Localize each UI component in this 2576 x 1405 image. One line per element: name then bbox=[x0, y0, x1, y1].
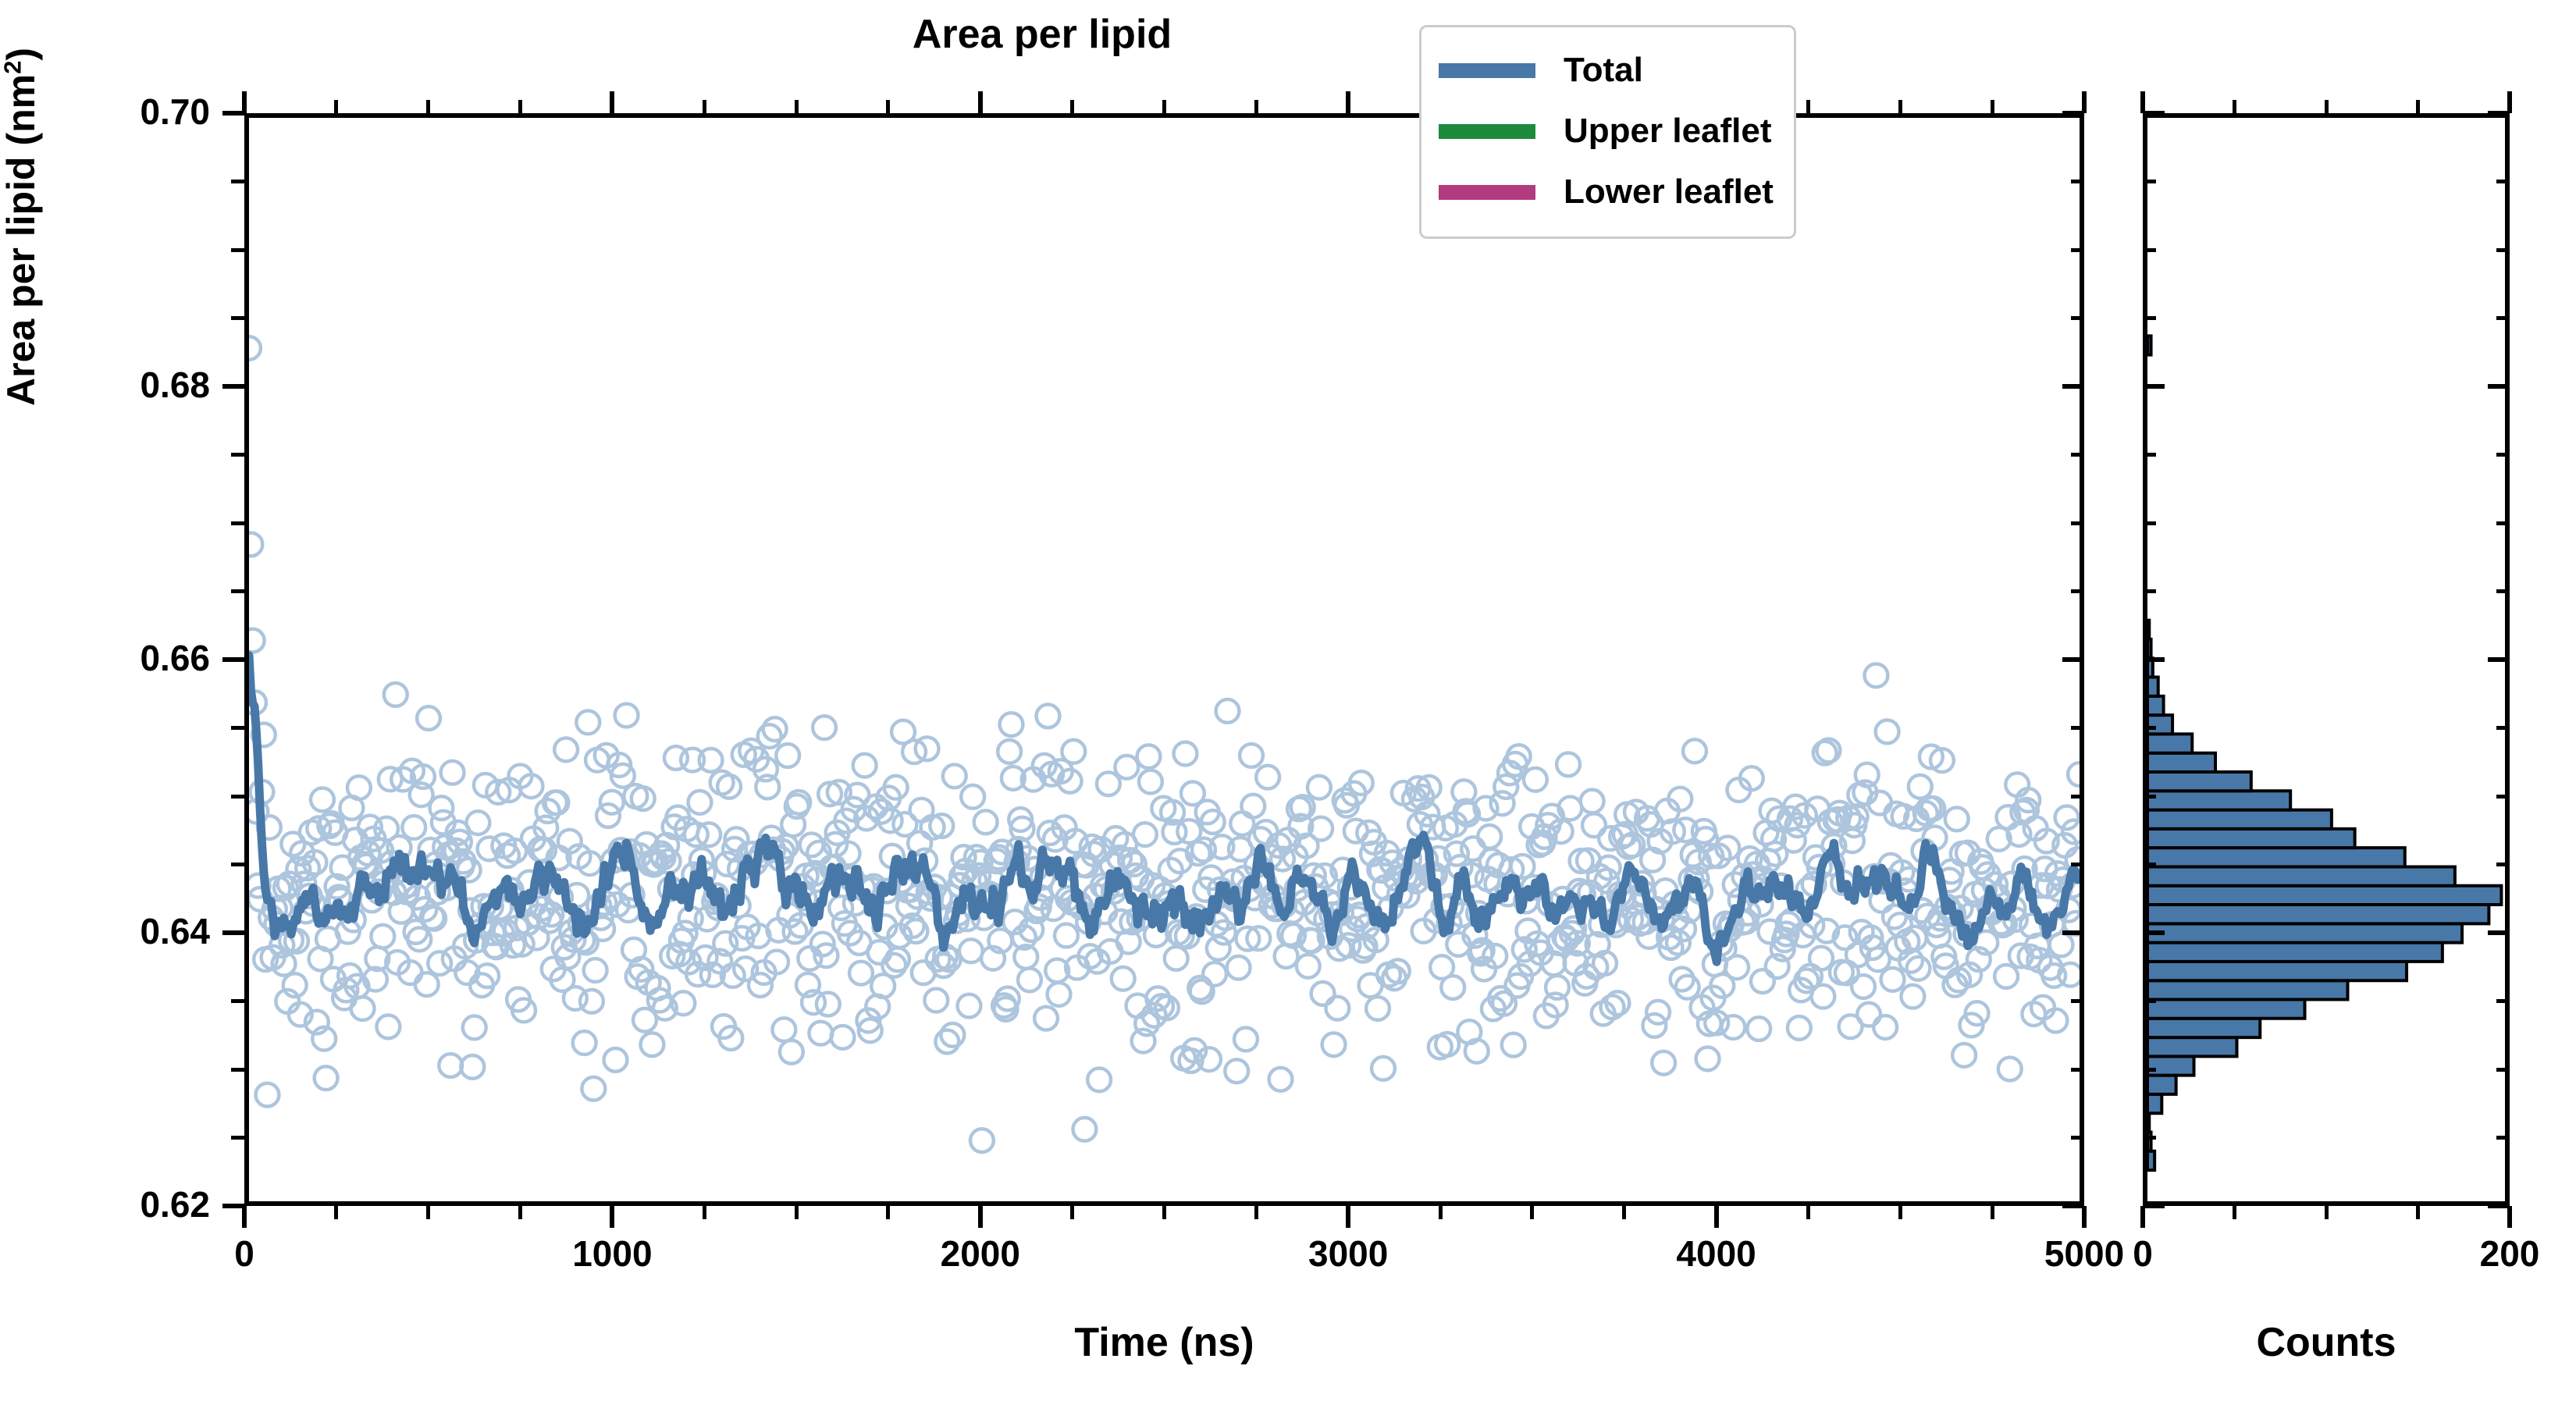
y-tick-minor-right bbox=[2071, 795, 2084, 799]
x-tick-minor bbox=[1806, 1206, 1810, 1219]
y-tick-major-right bbox=[2062, 384, 2084, 389]
histogram-bar bbox=[2147, 1113, 2149, 1132]
x-tick-minor bbox=[1898, 1206, 1902, 1219]
x-tick-minor bbox=[1162, 1206, 1166, 1219]
y-axis-title: Area per lipid (nm2) bbox=[0, 48, 44, 406]
x-tick-minor bbox=[1070, 1206, 1074, 1219]
histogram-bar bbox=[2147, 943, 2443, 962]
hist-x-tick-minor bbox=[2325, 1206, 2329, 1219]
y-tick-minor-right bbox=[2071, 999, 2084, 1003]
hist-x-tick-label: 0 bbox=[2026, 1232, 2260, 1275]
histogram-bar bbox=[2147, 772, 2251, 791]
y-tick-minor-right bbox=[2071, 1068, 2084, 1072]
hist-y-tick-minor-right bbox=[2496, 1068, 2510, 1072]
x-tick-minor bbox=[426, 1206, 430, 1219]
x-tick-minor-top bbox=[703, 100, 706, 113]
x-tick-label: 2000 bbox=[863, 1232, 1098, 1275]
y-tick-minor bbox=[231, 863, 244, 866]
y-tick-minor bbox=[231, 726, 244, 730]
x-tick-minor-top bbox=[518, 100, 522, 113]
hist-y-tick-minor-left bbox=[2143, 795, 2156, 799]
histogram-bar bbox=[2147, 621, 2149, 639]
x-tick-minor-top bbox=[1070, 100, 1074, 113]
y-tick-minor bbox=[231, 248, 244, 252]
hist-y-tick-minor-right bbox=[2496, 453, 2510, 457]
legend-swatch-upper-leaflet bbox=[1439, 124, 1535, 139]
hist-x-tick-minor-top bbox=[2325, 100, 2329, 113]
x-tick-label: 1000 bbox=[495, 1232, 729, 1275]
y-tick-major-right bbox=[2062, 657, 2084, 662]
y-tick-minor bbox=[231, 180, 244, 183]
x-tick-major-top bbox=[610, 91, 614, 113]
x-tick-label: 4000 bbox=[1599, 1232, 1834, 1275]
y-tick-minor bbox=[231, 589, 244, 593]
y-tick-major bbox=[222, 111, 244, 116]
histogram-bar bbox=[2147, 1019, 2260, 1037]
legend-label-lower-leaflet: Lower leaflet bbox=[1564, 175, 1774, 209]
x-tick-minor bbox=[1622, 1206, 1626, 1219]
histogram-bar bbox=[2147, 1094, 2161, 1113]
histogram-bar bbox=[2147, 1037, 2237, 1056]
hist-y-tick-minor-left bbox=[2143, 999, 2156, 1003]
histogram-bar bbox=[2147, 1076, 2176, 1094]
hist-y-tick-minor-left bbox=[2143, 726, 2156, 730]
hist-y-tick-minor-right bbox=[2496, 999, 2510, 1003]
hist-x-tick-major bbox=[2140, 1206, 2145, 1228]
x-tick-major bbox=[242, 1206, 247, 1228]
hist-x-tick-minor bbox=[2416, 1206, 2420, 1219]
hist-y-tick-minor-left bbox=[2143, 316, 2156, 320]
x-tick-major-top bbox=[978, 91, 983, 113]
main-plot-panel bbox=[244, 113, 2084, 1206]
hist-x-tick-minor-top bbox=[2233, 100, 2236, 113]
y-tick-minor bbox=[231, 1136, 244, 1140]
histogram-bar bbox=[2147, 810, 2332, 829]
y-tick-minor bbox=[231, 521, 244, 525]
hist-y-tick-minor-left bbox=[2143, 1068, 2156, 1072]
x-tick-major bbox=[978, 1206, 983, 1228]
x-tick-minor-top bbox=[795, 100, 799, 113]
y-tick-minor-right bbox=[2071, 1136, 2084, 1140]
y-tick-major bbox=[222, 1204, 244, 1208]
y-tick-minor bbox=[231, 999, 244, 1003]
hist-y-tick-minor-left bbox=[2143, 863, 2156, 866]
y-tick-minor-right bbox=[2071, 863, 2084, 866]
x-tick-major-top bbox=[242, 91, 247, 113]
hist-y-tick-major-right bbox=[2488, 930, 2510, 935]
hist-y-tick-major-right bbox=[2488, 1204, 2510, 1208]
x-tick-major bbox=[1714, 1206, 1719, 1228]
histogram-bar bbox=[2147, 336, 2151, 354]
hist-x-tick-minor-top bbox=[2416, 100, 2420, 113]
histogram-bar bbox=[2147, 678, 2158, 696]
hist-y-tick-minor-left bbox=[2143, 521, 2156, 525]
hist-y-tick-minor-right bbox=[2496, 316, 2510, 320]
histogram-bar bbox=[2147, 905, 2489, 923]
x-tick-minor-top bbox=[1806, 100, 1810, 113]
hist-y-tick-minor-left bbox=[2143, 453, 2156, 457]
y-tick-minor-right bbox=[2071, 248, 2084, 252]
figure-canvas: Area per lipid 0.700.680.660.640.62 0100… bbox=[0, 0, 2576, 1405]
hist-y-tick-major-left bbox=[2143, 384, 2165, 389]
legend-item-total[interactable]: Total bbox=[1439, 40, 1774, 101]
legend-swatch-total bbox=[1439, 63, 1535, 78]
histogram-bar bbox=[2147, 829, 2355, 848]
hist-y-tick-major-left bbox=[2143, 1204, 2165, 1208]
hist-y-tick-major-left bbox=[2143, 111, 2165, 116]
histogram-plot-area bbox=[2147, 118, 2505, 1201]
histogram-x-axis-title: Counts bbox=[2143, 1319, 2510, 1366]
hist-y-tick-minor-right bbox=[2496, 180, 2510, 183]
histogram-bar bbox=[2147, 791, 2290, 809]
x-tick-minor-top bbox=[1254, 100, 1258, 113]
y-tick-minor bbox=[231, 453, 244, 457]
legend-swatch-lower-leaflet bbox=[1439, 185, 1535, 200]
legend-box: Total Upper leaflet Lower leaflet bbox=[1419, 25, 1796, 239]
y-tick-label: 0.62 bbox=[0, 1183, 210, 1225]
hist-y-tick-major-left bbox=[2143, 657, 2165, 662]
hist-y-tick-major-left bbox=[2143, 930, 2165, 935]
histogram-panel bbox=[2143, 113, 2510, 1206]
x-tick-minor bbox=[703, 1206, 706, 1219]
y-tick-minor-right bbox=[2071, 589, 2084, 593]
histogram-bar bbox=[2147, 734, 2192, 752]
hist-y-tick-minor-right bbox=[2496, 726, 2510, 730]
x-tick-minor bbox=[886, 1206, 890, 1219]
y-tick-minor bbox=[231, 795, 244, 799]
legend-item-upper-leaflet[interactable]: Upper leaflet bbox=[1439, 101, 1774, 162]
legend-label-upper-leaflet: Upper leaflet bbox=[1564, 114, 1772, 148]
histogram-bar bbox=[2147, 1056, 2194, 1075]
x-tick-minor-top bbox=[426, 100, 430, 113]
histogram-bar bbox=[2147, 980, 2347, 999]
y-tick-label: 0.66 bbox=[0, 637, 210, 679]
hist-y-tick-minor-right bbox=[2496, 1136, 2510, 1140]
y-tick-minor bbox=[231, 1068, 244, 1072]
x-tick-minor bbox=[518, 1206, 522, 1219]
x-tick-minor bbox=[1991, 1206, 1994, 1219]
x-tick-minor-top bbox=[1898, 100, 1902, 113]
x-tick-major bbox=[1346, 1206, 1350, 1228]
x-tick-major bbox=[2082, 1206, 2087, 1228]
hist-y-tick-minor-right bbox=[2496, 521, 2510, 525]
x-tick-major bbox=[610, 1206, 614, 1228]
hist-x-tick-major-top bbox=[2507, 91, 2512, 113]
hist-x-tick-major bbox=[2507, 1206, 2512, 1228]
hist-y-tick-minor-right bbox=[2496, 589, 2510, 593]
hist-y-tick-major-right bbox=[2488, 384, 2510, 389]
y-tick-major bbox=[222, 657, 244, 662]
y-tick-major-right bbox=[2062, 930, 2084, 935]
legend-item-lower-leaflet[interactable]: Lower leaflet bbox=[1439, 162, 1774, 222]
hist-y-tick-minor-left bbox=[2143, 1136, 2156, 1140]
scatter-markers bbox=[249, 336, 2080, 1152]
y-tick-label: 0.64 bbox=[0, 910, 210, 952]
hist-y-tick-major-right bbox=[2488, 111, 2510, 116]
x-tick-label: 3000 bbox=[1231, 1232, 1465, 1275]
x-tick-label: 0 bbox=[127, 1232, 361, 1275]
y-axis-title-text: Area per lipid (nm bbox=[0, 74, 43, 406]
y-tick-minor-right bbox=[2071, 521, 2084, 525]
x-tick-minor bbox=[795, 1206, 799, 1219]
x-tick-minor-top bbox=[1991, 100, 1994, 113]
x-tick-minor-top bbox=[886, 100, 890, 113]
x-tick-minor bbox=[1439, 1206, 1443, 1219]
hist-y-tick-major-right bbox=[2488, 657, 2510, 662]
legend-label-total: Total bbox=[1564, 53, 1643, 87]
x-tick-minor bbox=[1254, 1206, 1258, 1219]
y-tick-minor bbox=[231, 316, 244, 320]
x-tick-minor-top bbox=[334, 100, 338, 113]
scatter-marker-path bbox=[249, 336, 2080, 1152]
hist-y-tick-minor-left bbox=[2143, 589, 2156, 593]
histogram-bar bbox=[2147, 753, 2215, 772]
hist-y-tick-minor-right bbox=[2496, 795, 2510, 799]
y-tick-major-right bbox=[2062, 111, 2084, 116]
y-tick-major-right bbox=[2062, 1204, 2084, 1208]
histogram-bar bbox=[2147, 866, 2455, 885]
hist-y-tick-minor-right bbox=[2496, 863, 2510, 866]
histogram-bar bbox=[2147, 962, 2407, 980]
hist-x-tick-major-top bbox=[2140, 91, 2145, 113]
hist-x-tick-minor bbox=[2233, 1206, 2236, 1219]
y-tick-major bbox=[222, 930, 244, 935]
y-tick-minor-right bbox=[2071, 316, 2084, 320]
histogram-bar bbox=[2147, 886, 2501, 905]
x-tick-major-top bbox=[1346, 91, 1350, 113]
histogram-bar bbox=[2147, 999, 2305, 1018]
x-tick-major-top bbox=[2082, 91, 2087, 113]
hist-y-tick-minor-left bbox=[2143, 248, 2156, 252]
histogram-bar bbox=[2147, 639, 2151, 658]
y-tick-minor-right bbox=[2071, 453, 2084, 457]
histogram-bars bbox=[2147, 336, 2501, 1170]
y-tick-minor-right bbox=[2071, 180, 2084, 183]
histogram-bar bbox=[2147, 715, 2172, 734]
x-axis-title: Time (ns) bbox=[244, 1319, 2084, 1366]
y-axis-title-paren: ) bbox=[0, 48, 43, 61]
y-tick-minor-right bbox=[2071, 726, 2084, 730]
y-axis-title-superscript: 2 bbox=[0, 61, 26, 74]
hist-x-tick-label: 200 bbox=[2393, 1232, 2576, 1275]
x-tick-minor bbox=[334, 1206, 338, 1219]
x-tick-minor-top bbox=[1162, 100, 1166, 113]
histogram-bar bbox=[2147, 923, 2462, 942]
histogram-bar bbox=[2147, 1151, 2154, 1170]
y-tick-major bbox=[222, 384, 244, 389]
histogram-bar bbox=[2147, 696, 2164, 715]
x-tick-minor bbox=[1530, 1206, 1534, 1219]
histogram-bar bbox=[2147, 848, 2405, 866]
hist-y-tick-minor-right bbox=[2496, 248, 2510, 252]
hist-y-tick-minor-left bbox=[2143, 180, 2156, 183]
scatter-plot-area bbox=[249, 118, 2080, 1201]
